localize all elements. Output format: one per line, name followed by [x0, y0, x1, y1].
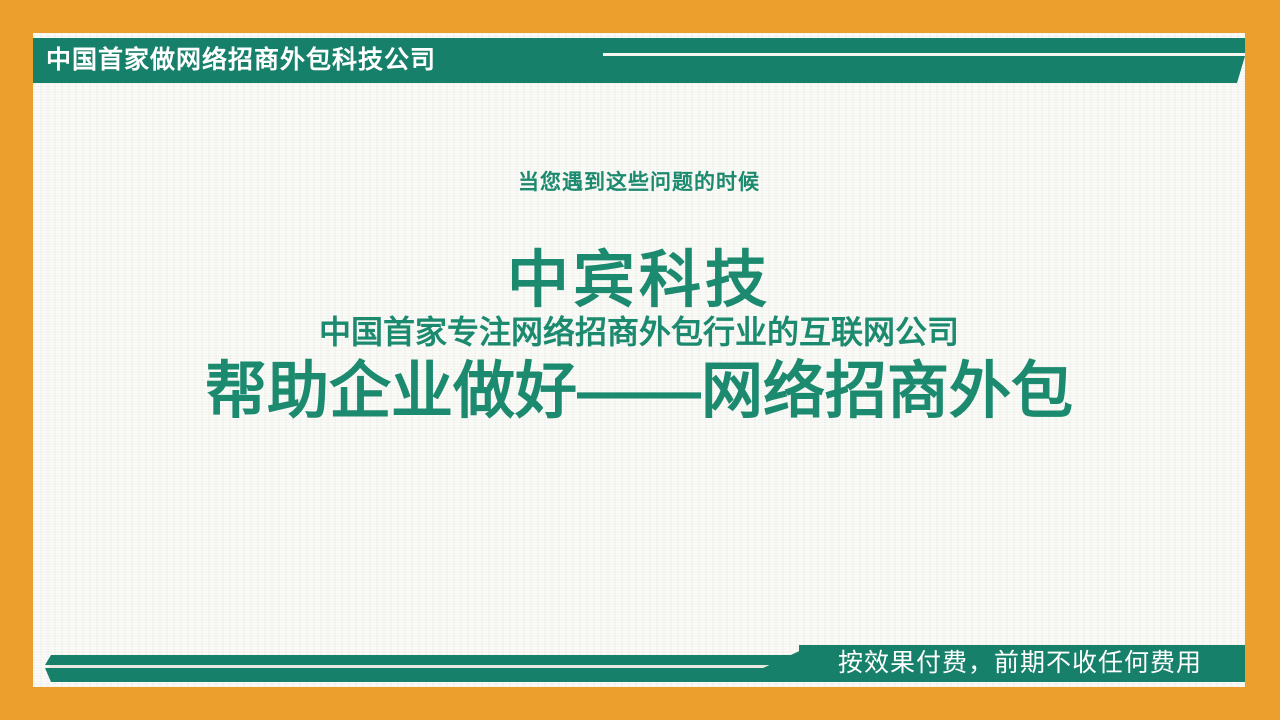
slide-content: 当您遇到这些问题的时候 中宾科技 中国首家专注网络招商外包行业的互联网公司 帮助…	[33, 33, 1245, 687]
main-headline: 帮助企业做好——网络招商外包	[33, 358, 1245, 426]
bottom-banner-divider-line	[49, 665, 789, 668]
company-tagline: 中国首家专注网络招商外包行业的互联网公司	[33, 315, 1245, 350]
slide-canvas: 中国首家做网络招商外包科技公司 当您遇到这些问题的时候 中宾科技 中国首家专注网…	[33, 33, 1245, 687]
presentation-slide: 中国首家做网络招商外包科技公司 当您遇到这些问题的时候 中宾科技 中国首家专注网…	[0, 0, 1280, 720]
brand-name: 中宾科技	[33, 248, 1245, 313]
bottom-banner: 按效果付费，前期不收任何费用	[33, 635, 1245, 687]
eyebrow-text: 当您遇到这些问题的时候	[33, 166, 1245, 196]
bottom-banner-bar-lower	[45, 668, 815, 682]
bottom-banner-bar-upper	[45, 655, 815, 665]
bottom-banner-text: 按效果付费，前期不收任何费用	[838, 645, 1202, 682]
